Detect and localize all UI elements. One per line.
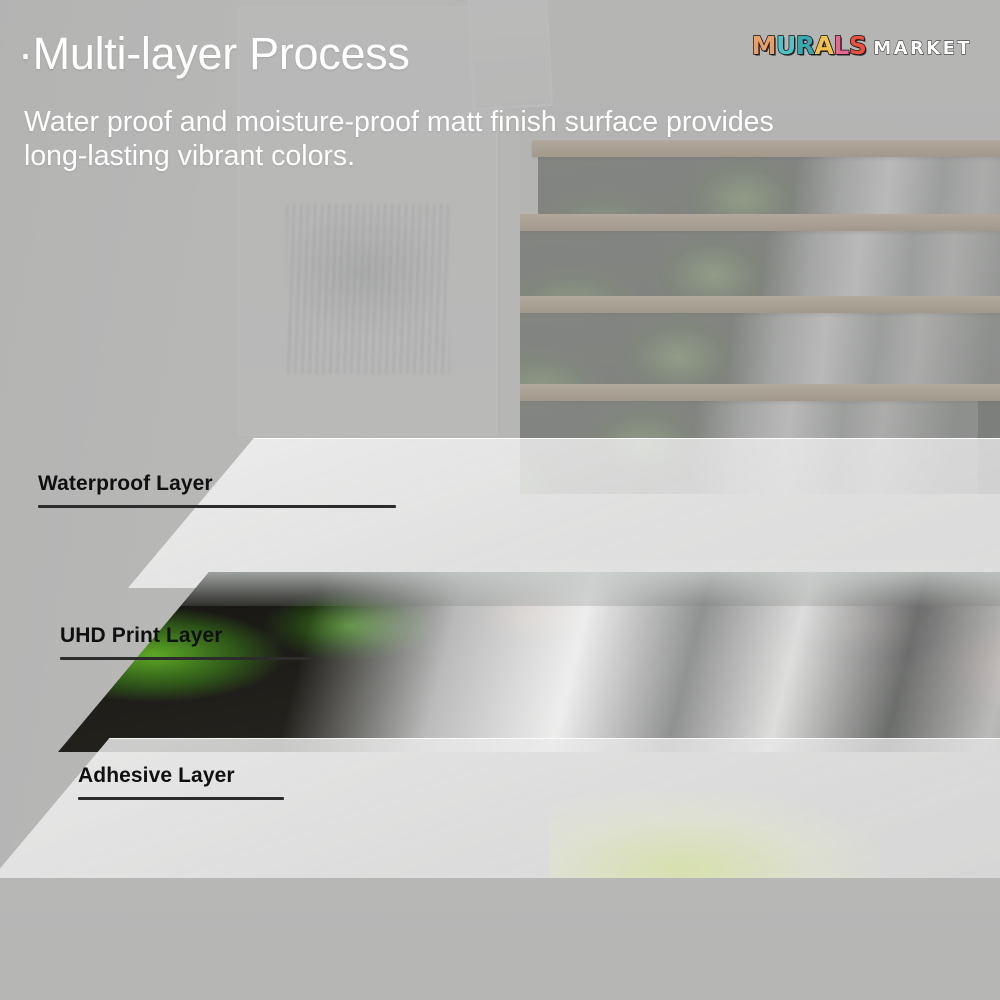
brand-logo[interactable]: MURALS MARKET <box>752 31 972 60</box>
layer-label-uhd-print: UHD Print Layer <box>60 624 312 648</box>
logo-letter-6: S <box>849 31 867 60</box>
logo-letter-3: R <box>796 31 815 60</box>
page-subtitle: Water proof and moisture-proof matt fini… <box>24 106 794 173</box>
layer-label-waterproof: Waterproof Layer <box>38 472 396 496</box>
callout-rule <box>38 505 396 508</box>
callout-rule <box>78 797 284 800</box>
callout-uhd-print-layer: UHD Print Layer <box>60 624 312 660</box>
logo-letter-5: L <box>833 31 848 60</box>
callout-adhesive-layer: Adhesive Layer <box>78 764 284 800</box>
callout-waterproof-layer: Waterproof Layer <box>38 472 396 508</box>
layer-slab-adhesive <box>0 738 1000 878</box>
logo-letter-2: U <box>776 31 796 60</box>
infographic-canvas: ·Multi-layer Process Water proof and moi… <box>0 0 1000 1000</box>
callout-rule <box>60 657 312 660</box>
logo-letter-4: A <box>815 31 834 60</box>
layer-label-adhesive: Adhesive Layer <box>78 764 284 788</box>
layer-slab-uhd-print <box>58 572 1000 752</box>
logo-letter-1: M <box>752 31 776 60</box>
page-title: ·Multi-layer Process <box>18 28 410 80</box>
logo-murals-text: MURALS <box>752 31 867 60</box>
layer-slab-waterproof <box>128 438 1000 588</box>
logo-market-text: MARKET <box>873 38 972 59</box>
